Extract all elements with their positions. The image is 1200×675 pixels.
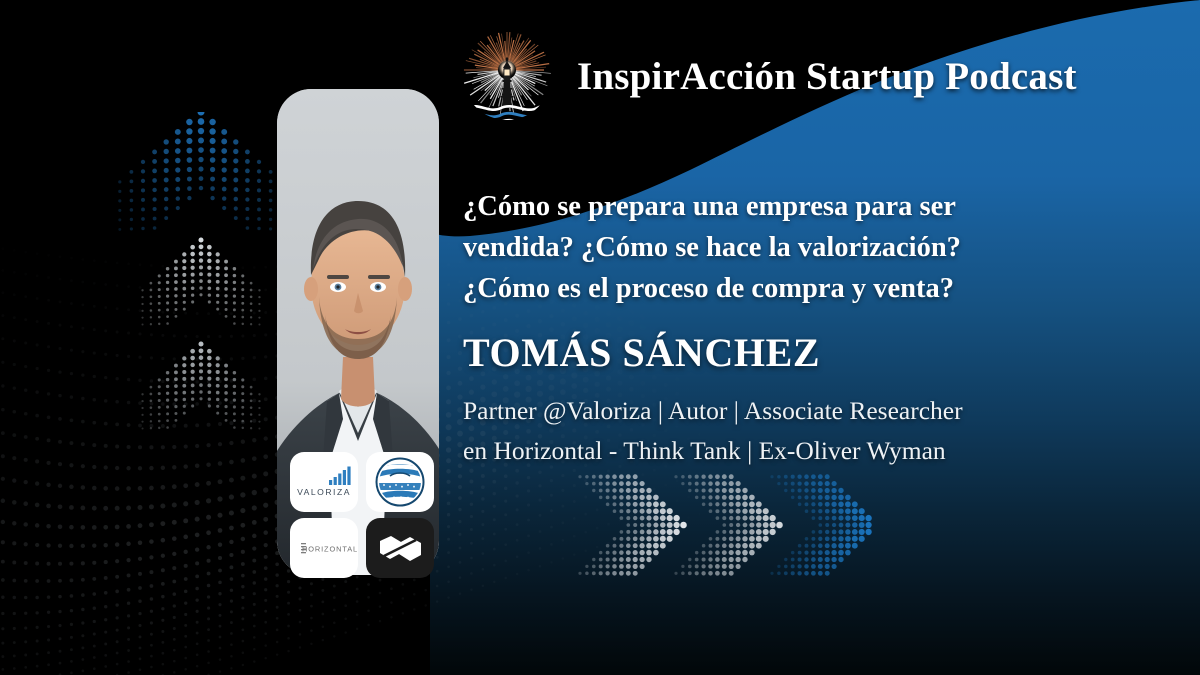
badge-globe[interactable] — [366, 452, 434, 512]
lighthouse-emblem — [455, 24, 559, 128]
badge-valoriza-label: VALORIZA — [297, 487, 351, 497]
chevron-right-stack — [572, 468, 872, 582]
globe-icon — [366, 452, 434, 512]
badge-oliver-wyman[interactable] — [366, 518, 434, 578]
episode-question-line: ¿Cómo es el proceso de compra y venta? — [463, 268, 1103, 309]
valoriza-logo: VALORIZA — [290, 452, 358, 512]
badge-horizontal-label: HORIZONTAL — [302, 545, 358, 554]
affiliation-badges: VALORIZA — [290, 452, 438, 580]
badge-horizontal[interactable]: HORIZONTAL — [290, 518, 358, 578]
podcast-brand: InspirAcción Startup Podcast — [455, 24, 1077, 128]
episode-question-line: vendida? ¿Cómo se hace la valorización? — [463, 227, 1103, 268]
episode-question: ¿Cómo se prepara una empresa para ser ve… — [463, 186, 1103, 309]
guest-role-line: Partner @Valoriza | Autor | Associate Re… — [463, 391, 1103, 431]
guest-name: TOMÁS SÁNCHEZ — [463, 327, 1103, 379]
guest-role-line: en Horizontal - Think Tank | Ex-Oliver W… — [463, 431, 1103, 471]
episode-content: ¿Cómo se prepara una empresa para ser ve… — [463, 186, 1103, 471]
podcast-title: InspirAcción Startup Podcast — [577, 54, 1077, 99]
badge-valoriza[interactable]: VALORIZA — [290, 452, 358, 512]
horizontal-logo: HORIZONTAL — [290, 518, 358, 578]
interlock-icon — [366, 518, 434, 578]
guest-role: Partner @Valoriza | Autor | Associate Re… — [463, 391, 1103, 471]
bar-chart-icon — [329, 467, 351, 486]
chevron-up-stack — [106, 112, 296, 458]
poster-canvas: VALORIZA — [0, 0, 1200, 675]
episode-question-line: ¿Cómo se prepara una empresa para ser — [463, 186, 1103, 227]
